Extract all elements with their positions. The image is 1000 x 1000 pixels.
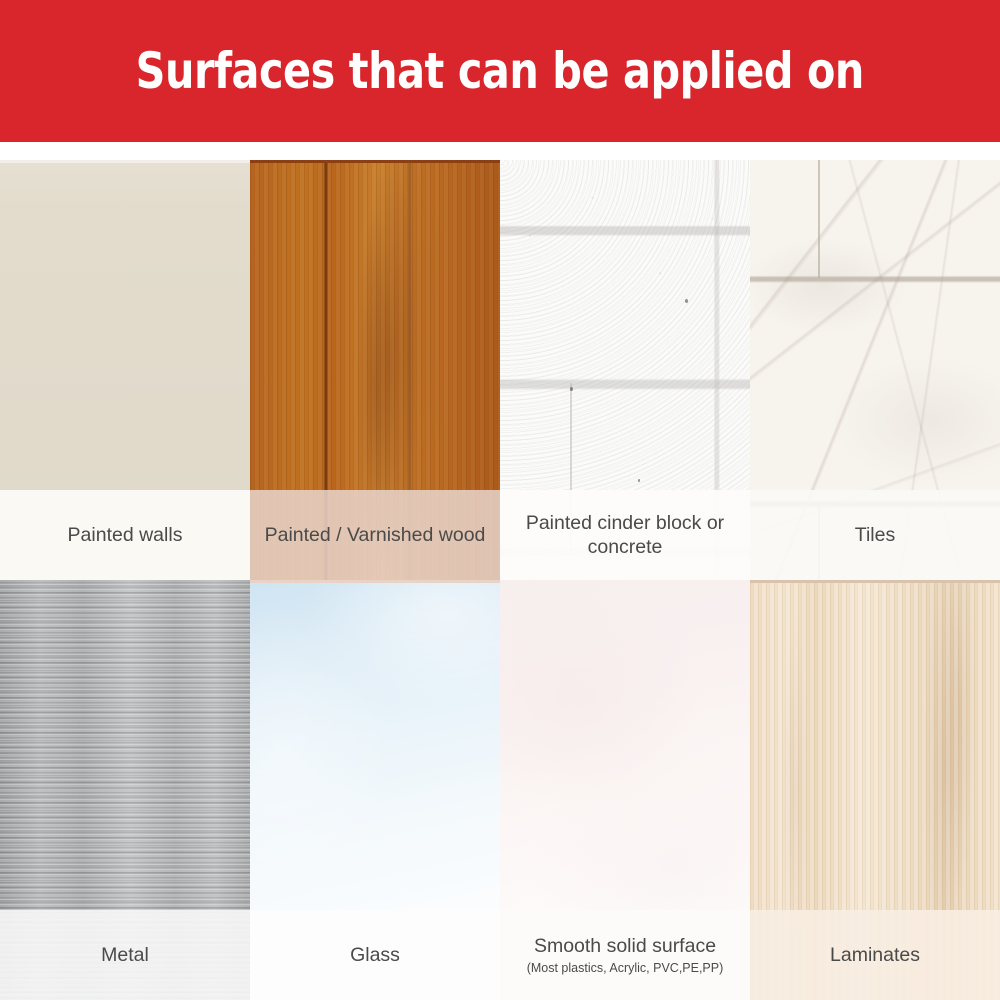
surface-cell-glass[interactable]: Glass [250, 580, 500, 1000]
caption-painted-cinder-block: Painted cinder block or concrete [500, 490, 750, 580]
surface-cell-painted-cinder-block[interactable]: Painted cinder block or concrete [500, 160, 750, 580]
caption-label: Metal [101, 943, 149, 967]
cell-top-seam [0, 160, 250, 163]
caption-label: Smooth solid surface [534, 934, 716, 958]
caption-label: Tiles [855, 523, 895, 547]
caption-label: Painted cinder block or concrete [506, 511, 744, 560]
page-title: Surfaces that can be applied on [136, 46, 864, 96]
caption-laminates: Laminates [750, 910, 1000, 1000]
surface-cell-laminates[interactable]: Laminates [750, 580, 1000, 1000]
surface-cell-painted-walls[interactable]: Painted walls [0, 160, 250, 580]
caption-painted-varnished-wood: Painted / Varnished wood [250, 490, 500, 580]
caption-painted-walls: Painted walls [0, 490, 250, 580]
caption-metal: Metal [0, 910, 250, 1000]
caption-label: Glass [350, 943, 400, 967]
cinder-block-speck [570, 387, 573, 391]
caption-label: Painted / Varnished wood [265, 523, 486, 547]
caption-glass: Glass [250, 910, 500, 1000]
surfaces-grid-row: Painted walls Painted / Varnished wood [0, 160, 1000, 580]
cell-top-seam [750, 580, 1000, 583]
surface-cell-painted-varnished-wood[interactable]: Painted / Varnished wood [250, 160, 500, 580]
cell-top-seam [250, 580, 500, 583]
surfaces-grid-row: Metal Glass Smooth solid surface (Most p… [0, 580, 1000, 1000]
surfaces-grid: Painted walls Painted / Varnished wood [0, 160, 1000, 1000]
surface-cell-smooth-solid-surface[interactable]: Smooth solid surface (Most plastics, Acr… [500, 580, 750, 1000]
header-banner: Surfaces that can be applied on [0, 0, 1000, 142]
cell-top-seam [250, 160, 500, 163]
surface-cell-tiles[interactable]: Tiles [750, 160, 1000, 580]
header-divider [0, 142, 1000, 160]
surfaces-infographic: Surfaces that can be applied on Painted … [0, 0, 1000, 1000]
cinder-block-speck [685, 299, 688, 303]
tile-grout-line [818, 160, 820, 278]
caption-label: Painted walls [68, 523, 183, 547]
cinder-block-speck [638, 479, 640, 482]
surface-cell-metal[interactable]: Metal [0, 580, 250, 1000]
caption-label: Laminates [830, 943, 920, 967]
caption-sublabel: (Most plastics, Acrylic, PVC,PE,PP) [527, 961, 724, 976]
caption-tiles: Tiles [750, 490, 1000, 580]
caption-smooth-solid-surface: Smooth solid surface (Most plastics, Acr… [500, 910, 750, 1000]
